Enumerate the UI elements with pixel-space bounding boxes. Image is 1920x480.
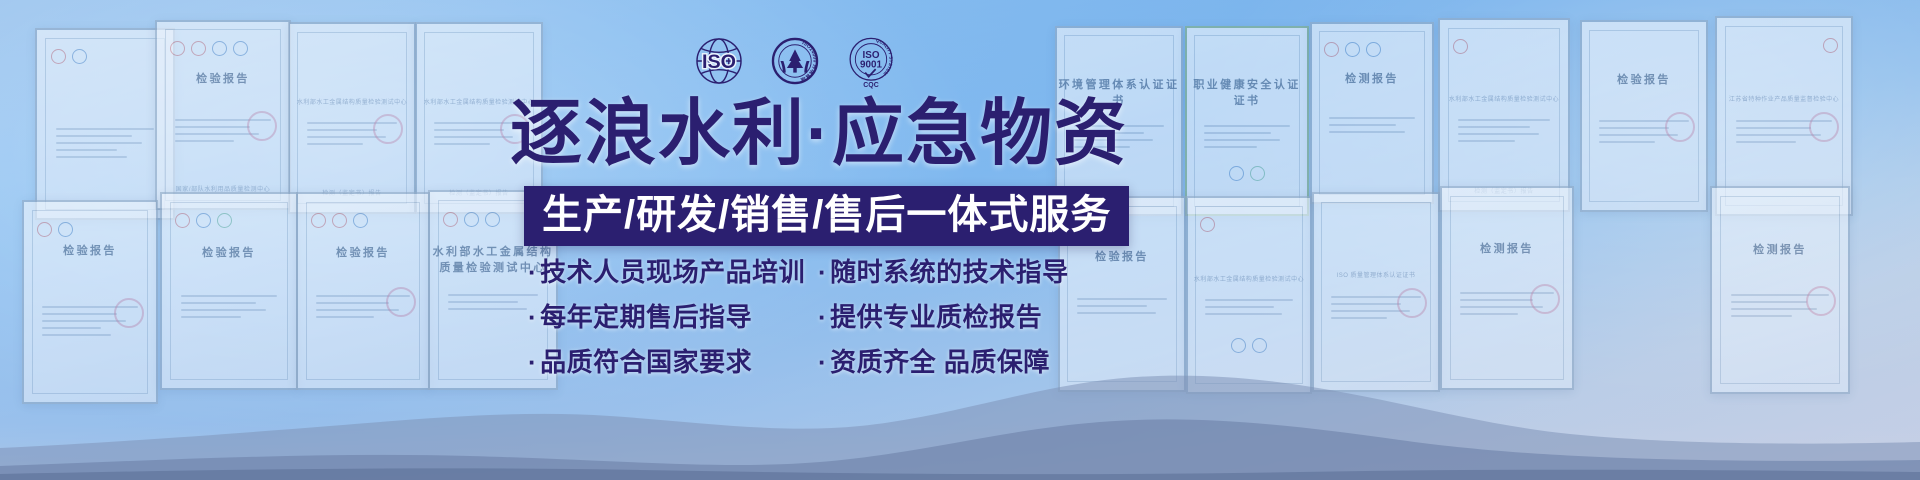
certificate-body-lines — [1204, 125, 1290, 153]
certificate-body-lines — [1329, 117, 1415, 138]
certificate-thumbnail: 水利部水工金属结构质量检验测试中心 检测（监定书）报告 — [288, 22, 416, 214]
certification-badge-row: ISO ISO14000 环境管理 — [690, 30, 900, 92]
certificate-body-lines — [1205, 299, 1293, 320]
list-item-label: 每年定期售后指导 — [540, 302, 752, 332]
certificate-seal-marks — [170, 41, 276, 56]
certificate-subtitle: ISO 质量管理体系认证证书 — [1314, 270, 1438, 279]
svg-text:ISO: ISO — [702, 51, 736, 73]
certificate-body-lines — [56, 128, 154, 163]
certificate-body-lines — [448, 294, 539, 315]
certificate-thumbnail: 职业健康安全认证证书 — [1185, 26, 1309, 216]
certificate-seal-marks — [311, 213, 415, 228]
certificate-title: 检验报告 — [157, 70, 289, 86]
list-item-label: 随时系统的技术指导 — [830, 257, 1069, 287]
certificate-stamp — [1806, 286, 1836, 316]
certificate-seal-marks — [37, 222, 143, 237]
iso14000-environment-icon: ISO14000 环境管理 — [766, 32, 824, 90]
certificate-seal-marks — [1199, 166, 1295, 181]
certificate-thumbnail — [35, 28, 175, 220]
certificate-title: 检测报告 — [1312, 70, 1432, 86]
iso-globe-badge: ISO — [690, 32, 748, 90]
list-item: ·每年定期售后指导 — [528, 297, 806, 334]
certificate-seal-marks — [1453, 39, 1555, 54]
list-item-label: 提供专业质检报告 — [830, 302, 1042, 332]
certificate-subtitle: 江苏省特种作业产品质量监督检验中心 — [1717, 94, 1851, 103]
bullet-dot-icon: · — [818, 257, 827, 287]
list-item-label: 技术人员现场产品培训 — [540, 257, 805, 287]
iso9001-cqc-icon: QUALITY SYSTEM ISO 9001 CQC — [842, 32, 900, 90]
certificate-body-lines — [1077, 298, 1166, 319]
certificate-title: 检验报告 — [298, 244, 428, 260]
certificate-seal-marks — [51, 49, 160, 64]
certificate-body-lines — [1458, 119, 1550, 147]
certificate-stamp — [114, 298, 144, 328]
certificate-seal-marks — [1200, 217, 1298, 232]
bullet-dot-icon: · — [528, 257, 537, 287]
certificate-thumbnail: 水利部水工金属结构质量检验测试中心 检测（监定书）报告 — [1438, 18, 1570, 212]
iso9001-cqc-badge: QUALITY SYSTEM ISO 9001 CQC — [842, 32, 900, 90]
bullet-dot-icon: · — [528, 302, 537, 332]
certificate-stamp — [1809, 112, 1839, 142]
certificate-subtitle: 水利部水工金属结构质量检验测试中心 — [1188, 274, 1310, 283]
certificate-title: 检测报告 — [1712, 241, 1848, 257]
certificate-body-lines — [181, 295, 278, 323]
certificate-seal-marks — [1324, 42, 1420, 57]
bullet-dot-icon: · — [818, 302, 827, 332]
certificate-stamp — [1397, 288, 1427, 318]
certificate-thumbnail: 检验报告 国家/部队水利用品质量检测中心 — [155, 20, 291, 210]
certificate-subtitle: 水利部水工金属结构质量检验测试中心 — [290, 97, 414, 106]
iso-globe-icon: ISO — [690, 32, 748, 90]
certificate-subtitle: 水利部水工金属结构质量检验测试中心 — [1440, 94, 1568, 103]
certificate-title: 职业健康安全认证证书 — [1187, 76, 1307, 108]
svg-text:9001: 9001 — [860, 59, 882, 70]
certificate-title: 检验报告 — [1582, 71, 1706, 87]
promotional-banner: 检验报告 国家/部队水利用品质量检测中心 水利部水工金属结构质量检验测试中心 检… — [0, 0, 1920, 480]
certificate-title: 检验报告 — [1060, 248, 1184, 264]
banner-headline: 逐浪水利·应急物资 — [510, 98, 1128, 170]
certificate-thumbnail: 检验报告 — [1580, 20, 1708, 212]
certificate-seal-marks — [1730, 38, 1837, 53]
banner-subtitle-bar: 生产/研发/销售/售后一体式服务 — [524, 186, 1129, 246]
list-item: ·提供专业质检报告 — [818, 297, 1068, 334]
mountain-silhouette — [0, 330, 1920, 480]
iso14000-environment-badge: ISO14000 环境管理 — [766, 32, 824, 90]
list-item: ·随时系统的技术指导 — [818, 252, 1068, 289]
certificate-thumbnail: 检测报告 — [1310, 22, 1434, 204]
certificate-stamp — [373, 114, 403, 144]
certificate-inner-border — [1194, 35, 1300, 206]
certificate-seal-marks — [175, 213, 282, 228]
list-item: ·技术人员现场产品培训 — [528, 252, 806, 289]
svg-text:CQC: CQC — [863, 82, 878, 89]
certificate-title: 检验报告 — [162, 244, 296, 260]
certificate-title: 检测报告 — [1442, 240, 1572, 256]
certificate-stamp — [1665, 112, 1695, 142]
certificate-title: 检验报告 — [24, 242, 156, 258]
